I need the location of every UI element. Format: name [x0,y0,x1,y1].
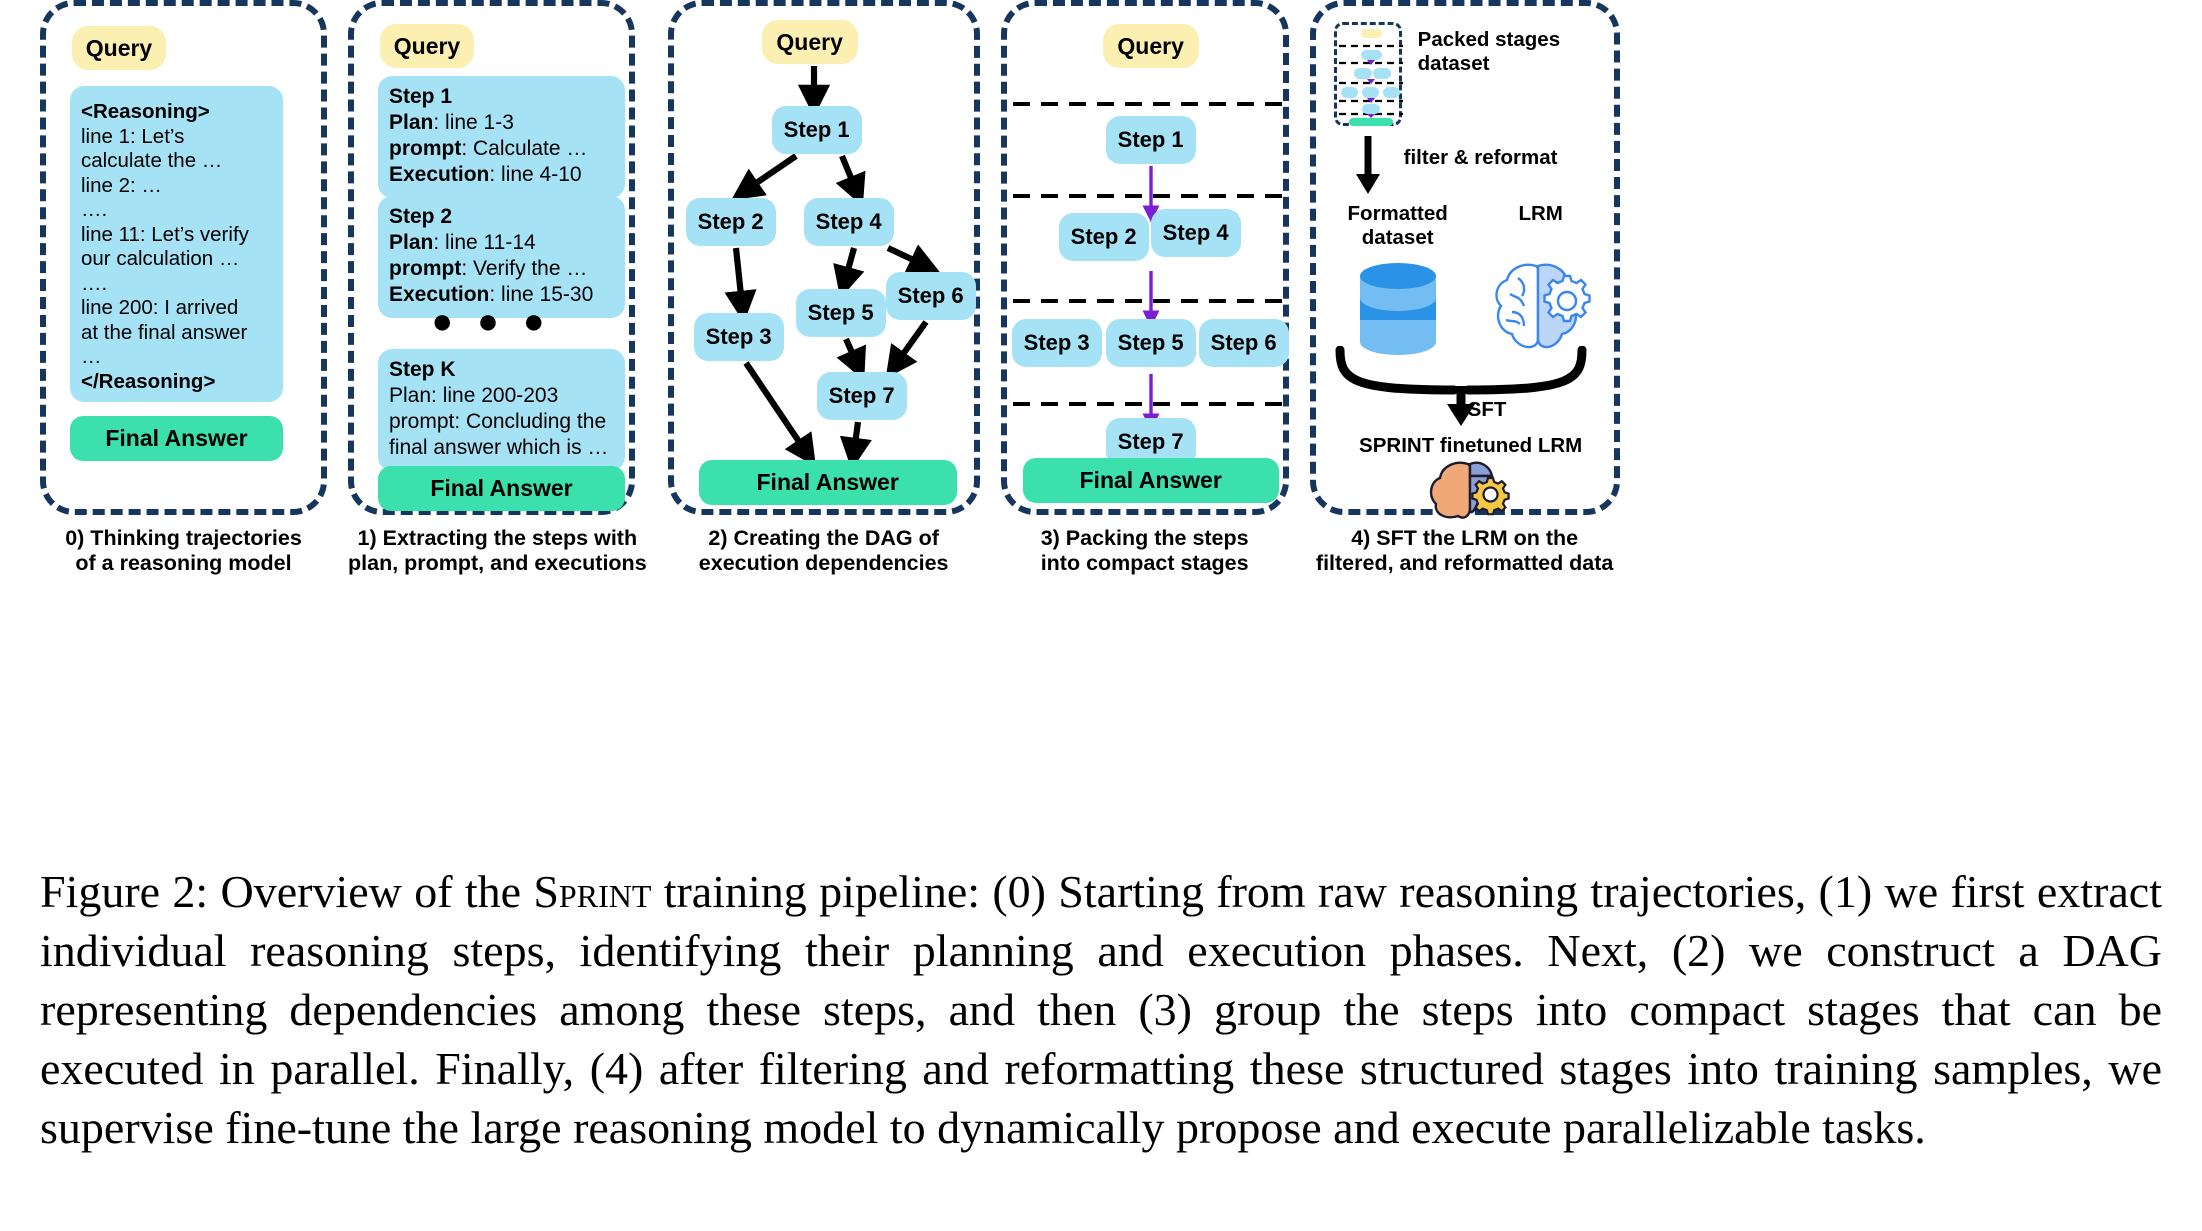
dag-node-step3: Step 3 [694,313,784,361]
dag-node-step4: Step 4 [804,198,894,246]
filter-reformat-arrow-icon [1342,134,1402,196]
figure-caption-text: Overview of the Sprint training pipeline… [40,866,2162,1153]
reasoning-close-tag: </Reasoning> [81,370,272,395]
step-field-value: : line 200-203 [431,384,558,407]
step-card-row: Plan: line 200-203 [389,383,614,409]
pipeline-panels: Query <Reasoning> line 1: Let’s calculat… [0,0,2202,590]
edge-step3-final [746,363,806,452]
query-chip: Query [762,20,858,64]
panel-caption-line: filtered, and reformatted data [1310,551,1620,576]
step-field-key: Execution [389,163,489,186]
query-chip: Query [72,26,166,70]
step-field-key: prompt [389,257,461,280]
reasoning-line: …. [81,198,272,223]
edge-step1-step2 [746,156,796,190]
step-field-value: : Verify the … [461,257,587,280]
step-card-title: Step 1 [389,84,614,110]
panel-caption-line: 0) Thinking trajectories [40,526,327,551]
lrm-label: LRM [1476,202,1606,226]
reasoning-open-tag: <Reasoning> [81,100,272,125]
packed-stages-label-line: Packed stages [1418,28,1560,51]
panel-0-box: Query <Reasoning> line 1: Let’s calculat… [40,0,327,515]
panel-caption-line: 2) Creating the DAG of [668,526,980,551]
query-chip: Query [380,24,474,68]
stage-1-step-1: Step 1 [1106,116,1196,164]
step-field-key: prompt [389,410,454,433]
step-field-key: Plan [389,384,431,407]
formatted-dataset-label: Formatted dataset [1328,202,1468,250]
edge-step2-step3 [736,248,742,305]
reasoning-line: our calculation … [81,247,272,272]
step-card-row: prompt: Calculate … [389,136,614,162]
reasoning-line: at the final answer [81,321,272,346]
step-field-key: Plan [389,111,433,134]
dag-node-step5: Step 5 [796,289,886,337]
figure-caption: Figure 2: Overview of the Sprint trainin… [40,862,2162,1157]
step-field-value: : Concluding the [454,410,606,433]
step-card-row: Execution: line 4-10 [389,162,614,188]
panel-2-box: Query Step 1 Step 2 Step 4 Step 3 Step 5… [668,0,980,515]
figure-root: Query <Reasoning> line 1: Let’s calculat… [0,0,2202,1231]
dag-edges [674,6,986,521]
step-card-row: Plan: line 11-14 [389,230,614,256]
final-answer-chip: Final Answer [1023,458,1279,503]
step-card-row: Plan: line 1-3 [389,110,614,136]
merge-bracket-icon [1330,346,1600,434]
step-card-row: final answer which is … [389,435,614,461]
step-card: Step K Plan: line 200-203 prompt: Conclu… [378,349,625,471]
step-field-value: : Calculate … [461,137,587,160]
panel-caption-line: 1) Extracting the steps with [348,526,647,551]
panel-2-dag: Query Step 1 Step 2 Step 4 Step 3 Step 5… [668,0,980,576]
reasoning-line: line 1: Let’s [81,125,272,150]
reasoning-line: line 200: I arrived [81,296,272,321]
step-field-value: : line 1-3 [433,111,514,134]
final-answer-chip: Final Answer [378,466,625,511]
panel-3-box: Query Step 1 Step 2 Step 4 Step 3 Step 5… [1001,0,1289,515]
formatted-dataset-label-line: Formatted [1348,202,1448,225]
figure-caption-label: Figure 2: [40,866,208,917]
panel-caption-line: 4) SFT the LRM on the [1310,526,1620,551]
panel-caption-line: execution dependencies [668,551,980,576]
panel-1-extract-steps: Query Step 1 Plan: line 1-3 prompt: Calc… [348,0,647,576]
stage-3-step-5: Step 5 [1106,319,1196,367]
panel-4-sft: Packed stages dataset filter & reformat … [1310,0,1620,576]
dag-node-step7: Step 7 [817,372,907,420]
packed-stages-thumbnail [1334,22,1402,126]
stage-3-step-3: Step 3 [1012,319,1102,367]
reasoning-line: line 2: … [81,174,272,199]
reasoning-block: <Reasoning> line 1: Let’s calculate the … [70,86,283,402]
reasoning-line: …. [81,272,272,297]
panel-caption-line: plan, prompt, and executions [348,551,647,576]
edge-step4-step6 [888,248,924,265]
final-answer-chip: Final Answer [699,460,957,505]
edge-step7-final [854,422,858,452]
sft-label: SFT [1468,398,1507,422]
step-field-value: : line 11-14 [433,231,535,254]
ellipsis-dots: ● ● ● [354,311,629,331]
panel-caption-line: into compact stages [1001,551,1289,576]
reasoning-line: … [81,345,272,370]
database-icon [1352,260,1444,360]
panel-1-caption: 1) Extracting the steps with plan, promp… [348,526,647,576]
packed-stages-label-line: dataset [1418,52,1490,75]
packed-stages-label: Packed stages dataset [1418,28,1588,76]
panel-4-caption: 4) SFT the LRM on the filtered, and refo… [1310,526,1620,576]
panel-3-caption: 3) Packing the steps into compact stages [1001,526,1289,576]
step-card-title: Step 2 [389,204,614,230]
final-answer-chip: Final Answer [70,416,283,461]
step-card-row: prompt: Verify the … [389,256,614,282]
step-field-value: : line 4-10 [489,163,581,186]
dag-node-step6: Step 6 [886,272,976,320]
panel-0-thinking-trajectories: Query <Reasoning> line 1: Let’s calculat… [40,0,327,576]
dag-node-step2: Step 2 [686,198,776,246]
smallcaps-sprint: Sprint [533,866,651,917]
panel-4-box: Packed stages dataset filter & reformat … [1310,0,1620,515]
step-field-key: prompt [389,137,461,160]
edge-step5-step7 [846,339,857,364]
panel-3-packing: Query Step 1 Step 2 Step 4 Step 3 Step 5… [1001,0,1289,576]
edge-step4-step5 [845,248,854,281]
panel-caption-line: of a reasoning model [40,551,327,576]
panel-caption-line: 3) Packing the steps [1001,526,1289,551]
step-card: Step 1 Plan: line 1-3 prompt: Calculate … [378,76,625,198]
step-card-row: prompt: Concluding the [389,409,614,435]
reasoning-line: line 11: Let’s verify [81,223,272,248]
brain-gear-color-icon [1428,458,1514,520]
step-card-title: Step K [389,357,614,383]
panel-2-caption: 2) Creating the DAG of execution depende… [668,526,980,576]
stage-3-step-6: Step 6 [1199,319,1289,367]
query-chip: Query [1103,24,1199,68]
formatted-dataset-label-line: dataset [1362,226,1434,249]
packed-stages-mini-icon [1337,25,1405,129]
stage-2-step-4: Step 4 [1151,209,1241,257]
dag-node-step1: Step 1 [772,106,862,154]
panel-0-caption: 0) Thinking trajectories of a reasoning … [40,526,327,576]
filter-reformat-label: filter & reformat [1404,146,1614,170]
step-field-key: Plan [389,231,433,254]
panel-1-box: Query Step 1 Plan: line 1-3 prompt: Calc… [348,0,635,515]
edge-step6-step7 [896,322,926,364]
edge-step1-step4 [842,156,856,190]
reasoning-line: calculate the … [81,149,272,174]
step-field-value: final answer which is … [389,436,608,459]
sprint-finetuned-lrm-label: SPRINT finetuned LRM [1316,434,1626,458]
stage-2-step-2: Step 2 [1059,213,1149,261]
